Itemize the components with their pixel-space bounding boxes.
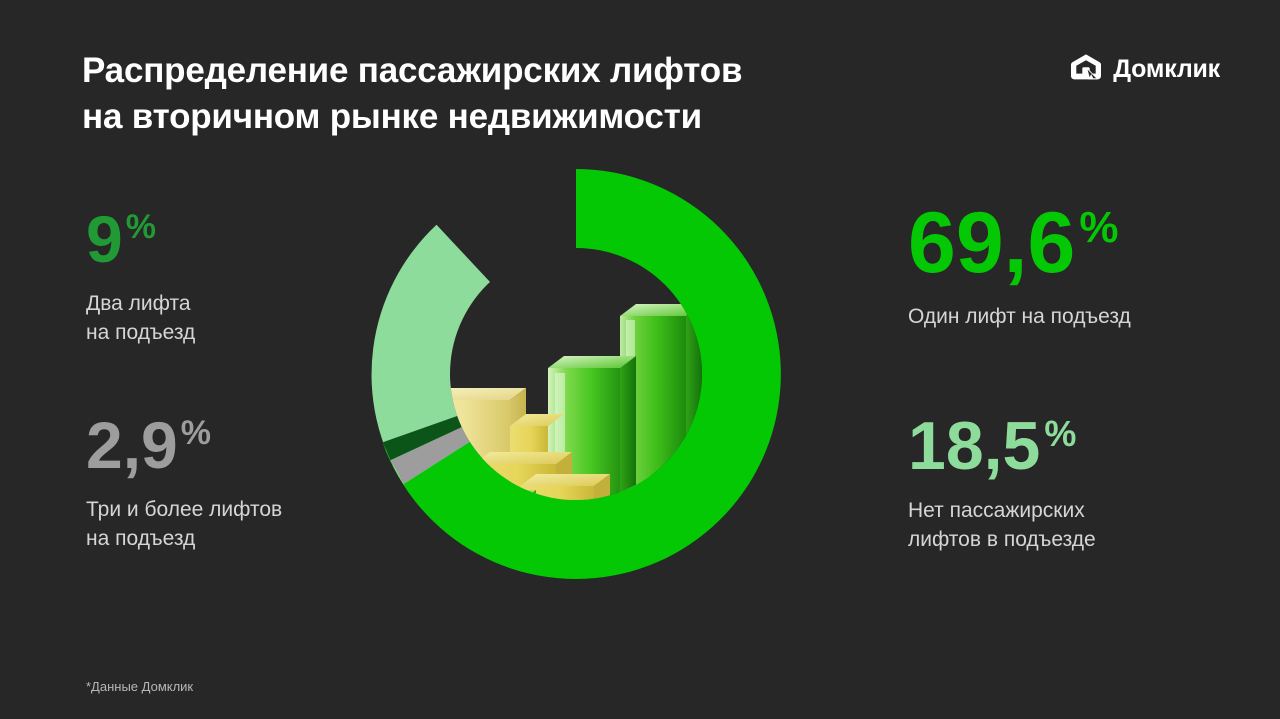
stat-three-or-more-lifts-label: Три и более лифтов на подъезд bbox=[86, 496, 282, 554]
donut-chart-svg bbox=[370, 168, 782, 580]
infographic-page: Распределение пассажирских лифтов на вто… bbox=[0, 0, 1280, 719]
stat-three-or-more-lifts-percent: % bbox=[181, 416, 211, 450]
stat-two-lifts-percent: % bbox=[126, 210, 156, 244]
stat-no-lifts-percent: % bbox=[1044, 416, 1076, 452]
footnote: *Данные Домклик bbox=[86, 679, 193, 694]
donut-chart bbox=[370, 168, 782, 580]
stat-two-lifts-label: Два лифта на подъезд bbox=[86, 290, 195, 348]
stat-no-lifts: 18,5 % Нет пассажирских лифтов в подъезд… bbox=[908, 412, 1096, 555]
stat-two-lifts-value: 9 % bbox=[86, 206, 195, 272]
stat-no-lifts-label: Нет пассажирских лифтов в подъезде bbox=[908, 497, 1096, 555]
stat-no-lifts-value: 18,5 % bbox=[908, 412, 1096, 480]
stat-one-lift: 69,6 % Один лифт на подъезд bbox=[908, 200, 1131, 332]
stat-three-or-more-lifts-value: 2,9 % bbox=[86, 412, 282, 478]
stat-two-lifts-number: 9 bbox=[86, 206, 123, 272]
logo-wordmark: Домклик bbox=[1113, 55, 1220, 84]
domclick-house-cursor-icon bbox=[1069, 52, 1103, 86]
stat-one-lift-value: 69,6 % bbox=[908, 200, 1131, 286]
page-title: Распределение пассажирских лифтов на вто… bbox=[82, 48, 912, 139]
stat-one-lift-percent: % bbox=[1079, 206, 1118, 250]
domclick-logo: Домклик bbox=[1069, 52, 1220, 86]
stat-one-lift-label: Один лифт на подъезд bbox=[908, 303, 1131, 332]
stat-two-lifts: 9 % Два лифта на подъезд bbox=[86, 206, 195, 348]
stat-three-or-more-lifts: 2,9 % Три и более лифтов на подъезд bbox=[86, 412, 282, 554]
stat-three-or-more-lifts-number: 2,9 bbox=[86, 412, 178, 478]
stat-no-lifts-number: 18,5 bbox=[908, 412, 1040, 480]
stat-one-lift-number: 69,6 bbox=[908, 200, 1075, 286]
